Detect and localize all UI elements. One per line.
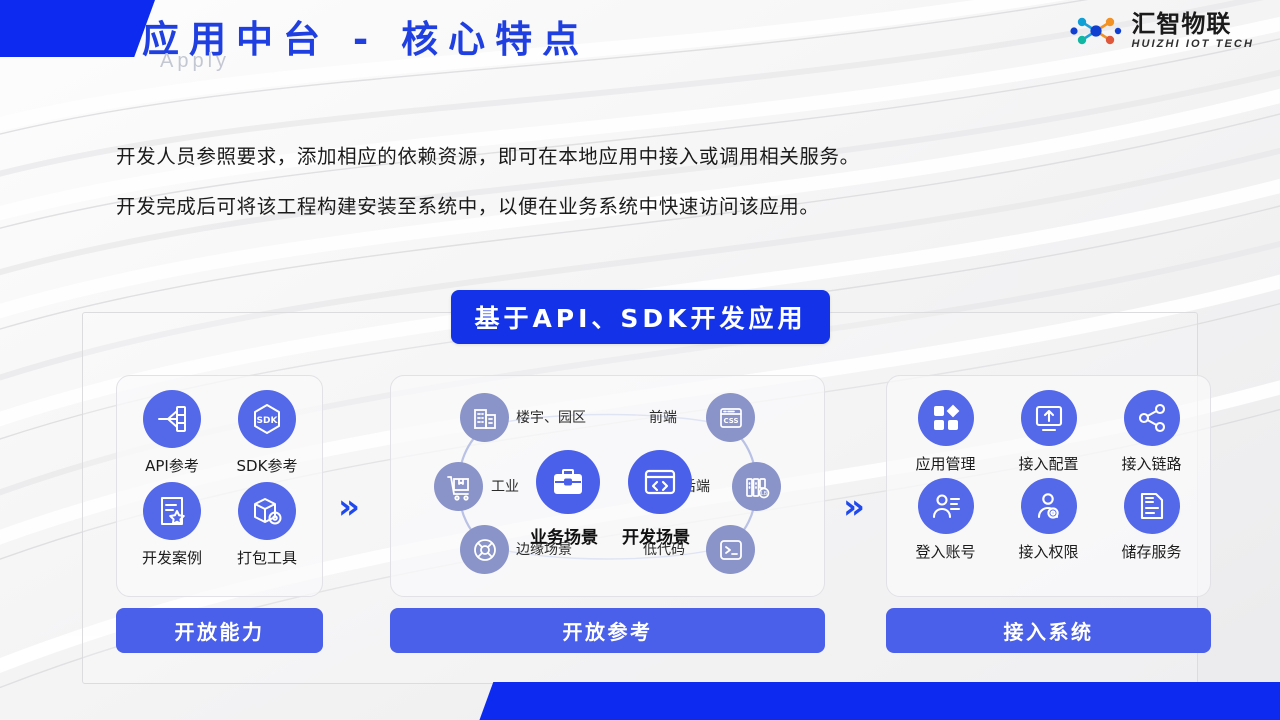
tile-label: 登入账号 — [915, 541, 975, 562]
tile-dev-case[interactable]: 开发案例 — [125, 482, 220, 568]
tile-label: SDK参考 — [237, 455, 298, 476]
satellite-industry[interactable] — [434, 462, 483, 511]
user-card-icon — [918, 478, 974, 534]
monitor-upload-icon — [1021, 390, 1077, 446]
scene-graph: 楼宇、园区 工业 边缘场景 — [390, 375, 825, 597]
tile-label: 储存服务 — [1121, 541, 1181, 562]
tile-access-link[interactable]: 接入链路 — [1100, 390, 1203, 474]
tile-label: 打包工具 — [237, 547, 297, 568]
tile-login-account[interactable]: 登入账号 — [894, 478, 997, 562]
tile-api-reference[interactable]: API参考 — [125, 390, 220, 476]
panel-right-card: 应用管理 接入配置 — [886, 375, 1211, 597]
hub-label: 业务场景 — [530, 523, 598, 548]
chevron-right-icon-1: » — [338, 490, 360, 524]
panel-right-tiles: 应用管理 接入配置 — [887, 390, 1210, 566]
tile-app-management[interactable]: 应用管理 — [894, 390, 997, 474]
document-star-icon — [143, 482, 201, 540]
chevron-right-icon-2: » — [843, 490, 865, 524]
panel-left-footer-button[interactable]: 开放能力 — [116, 608, 323, 653]
tile-label: 开发案例 — [142, 547, 202, 568]
api-node-tree-icon — [143, 390, 201, 448]
file-storage-icon — [1124, 478, 1180, 534]
dashboard-grid-icon — [918, 390, 974, 446]
page-subtitle: Apply — [160, 50, 230, 73]
panel-access-system: 应用管理 接入配置 — [886, 375, 1211, 653]
satellite-label: 工业 — [491, 476, 519, 496]
panel-open-capability: API参考 SDK SDK参考 — [116, 375, 323, 653]
panel-open-reference: 楼宇、园区 工业 边缘场景 — [390, 375, 825, 653]
satellite-label: 楼宇、园区 — [516, 407, 586, 427]
svg-text:CSS: CSS — [723, 417, 738, 425]
user-gear-icon — [1021, 478, 1077, 534]
satellite-frontend[interactable]: CSS — [706, 393, 755, 442]
satellite-edge[interactable] — [460, 525, 509, 574]
tile-storage-service[interactable]: 储存服务 — [1100, 478, 1203, 562]
body-paragraph-2: 开发完成后可将该工程构建安装至系统中，以便在业务系统中快速访问该应用。 — [116, 190, 820, 219]
box-gear-icon — [238, 482, 296, 540]
tile-packaging-tool[interactable]: 打包工具 — [220, 482, 315, 568]
sdk-cube-icon: SDK — [238, 390, 296, 448]
panel-right-footer-button[interactable]: 接入系统 — [886, 608, 1211, 653]
tile-label: 应用管理 — [915, 453, 975, 474]
satellite-label: 前端 — [649, 407, 677, 427]
banner-title: 基于API、SDK开发应用 — [451, 290, 830, 344]
tile-label: 接入配置 — [1018, 453, 1078, 474]
hub-label: 开发场景 — [622, 523, 690, 548]
panel-left-card: API参考 SDK SDK参考 — [116, 375, 323, 597]
logo-name-cn: 汇智物联 — [1131, 12, 1254, 37]
molecule-network-icon — [1070, 10, 1122, 52]
tile-label: API参考 — [145, 455, 199, 476]
panel-center-footer-button[interactable]: 开放参考 — [390, 608, 825, 653]
slide-root: 应用中台 - 核心特点 Apply — [0, 0, 1280, 720]
satellite-building[interactable] — [460, 393, 509, 442]
body-paragraph-1: 开发人员参照要求，添加相应的依赖资源，即可在本地应用中接入或调用相关服务。 — [116, 140, 860, 169]
satellite-backend[interactable]: LB — [732, 462, 781, 511]
tile-label: 接入链路 — [1121, 453, 1181, 474]
hub-development-scenario[interactable] — [628, 450, 692, 514]
logo-name-en: HUIZHI IOT TECH — [1131, 39, 1254, 51]
share-nodes-icon — [1124, 390, 1180, 446]
tile-label: 接入权限 — [1018, 541, 1078, 562]
bottom-accent-band — [478, 682, 1280, 720]
tile-access-config[interactable]: 接入配置 — [997, 390, 1100, 474]
svg-text:LB: LB — [760, 491, 767, 497]
hub-business-scenario[interactable] — [536, 450, 600, 514]
satellite-lowcode[interactable] — [706, 525, 755, 574]
svg-text:SDK: SDK — [257, 416, 279, 426]
panel-center-card: 楼宇、园区 工业 边缘场景 — [390, 375, 825, 597]
tile-access-permission[interactable]: 接入权限 — [997, 478, 1100, 562]
brand-logo: 汇智物联 HUIZHI IOT TECH — [1070, 10, 1254, 52]
header-accent-band — [0, 0, 155, 57]
tile-sdk-reference[interactable]: SDK SDK参考 — [220, 390, 315, 476]
panel-left-tiles: API参考 SDK SDK参考 — [117, 390, 322, 574]
